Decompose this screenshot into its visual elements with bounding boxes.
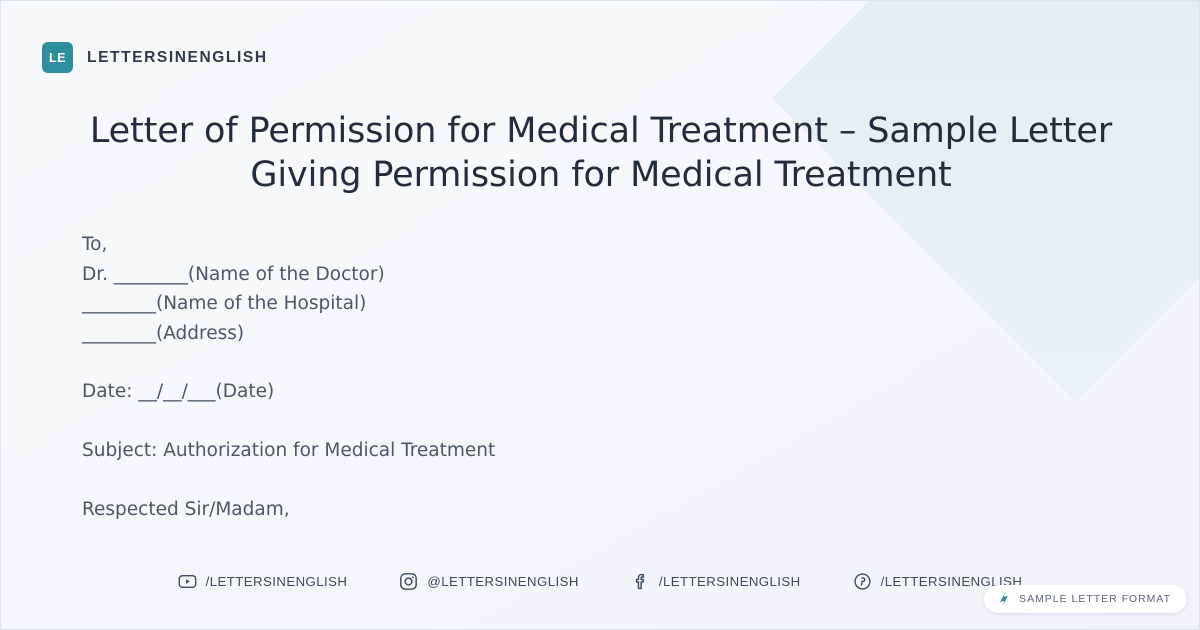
social-handle-label: @LETTERSINENGLISH: [427, 574, 578, 589]
social-link-youtube[interactable]: /LETTERSINENGLISH: [178, 572, 348, 591]
letter-line: Subject: Authorization for Medical Treat…: [82, 436, 982, 466]
letter-line: To,: [82, 230, 982, 260]
letter-paragraph: Respected Sir/Madam,: [82, 495, 982, 525]
lightning-bolt-icon: [997, 592, 1011, 606]
letter-line: Dr. ________(Name of the Doctor): [82, 260, 982, 290]
letter-line: Date: __/__/___(Date): [82, 377, 982, 407]
instagram-icon: [399, 572, 418, 591]
letter-paragraph: Subject: Authorization for Medical Treat…: [82, 436, 982, 466]
page-title: Letter of Permission for Medical Treatme…: [61, 109, 1141, 197]
social-link-instagram[interactable]: @LETTERSINENGLISH: [399, 572, 578, 591]
social-handle-label: /LETTERSINENGLISH: [659, 574, 801, 589]
facebook-icon: [631, 572, 650, 591]
sample-letter-format-badge[interactable]: SAMPLE LETTER FORMAT: [984, 585, 1187, 613]
brand-wordmark: LETTERSINENGLISH: [87, 49, 268, 67]
letter-paragraph: Date: __/__/___(Date): [82, 377, 982, 407]
brand-mark-icon: LE: [42, 42, 73, 73]
share-card: LE LETTERSINENGLISH Letter of Permission…: [0, 0, 1200, 630]
letter-body: To,Dr. ________(Name of the Doctor)_____…: [82, 230, 982, 524]
pinterest-icon: [853, 572, 872, 591]
social-link-facebook[interactable]: /LETTERSINENGLISH: [631, 572, 801, 591]
letter-line: ________(Name of the Hospital): [82, 289, 982, 319]
badge-label: SAMPLE LETTER FORMAT: [1019, 594, 1171, 605]
letter-line: Respected Sir/Madam,: [82, 495, 982, 525]
letter-line: ________(Address): [82, 319, 982, 349]
letter-paragraph: To,Dr. ________(Name of the Doctor)_____…: [82, 230, 982, 348]
brand-logo[interactable]: LE LETTERSINENGLISH: [42, 42, 268, 73]
youtube-icon: [178, 572, 197, 591]
social-handle-label: /LETTERSINENGLISH: [206, 574, 348, 589]
